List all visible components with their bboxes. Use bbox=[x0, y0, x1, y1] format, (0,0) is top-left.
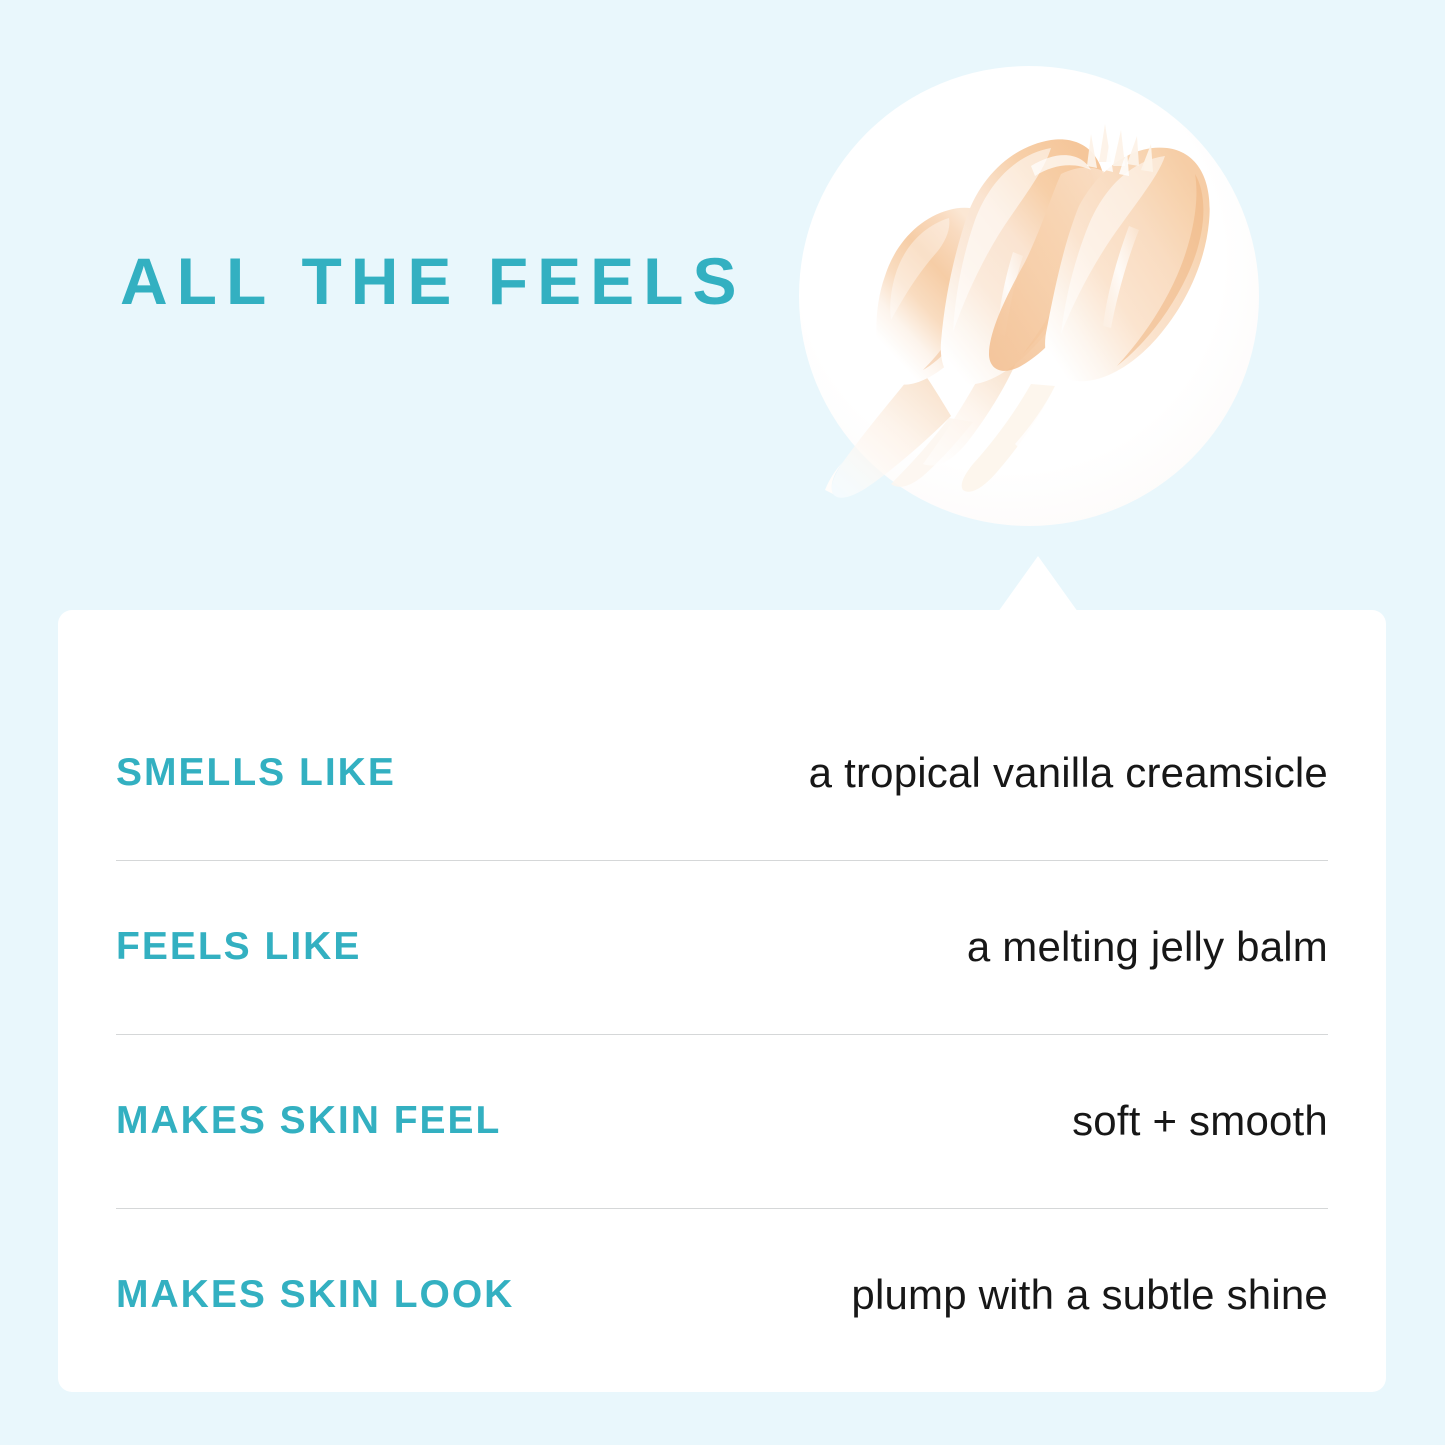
attribute-value: a melting jelly balm bbox=[967, 923, 1328, 971]
cream-swatch-image bbox=[799, 66, 1259, 526]
attribute-value: soft + smooth bbox=[1072, 1097, 1328, 1145]
cream-swatch-art-icon bbox=[799, 66, 1259, 526]
attributes-list: SMELLS LIKE a tropical vanilla creamsicl… bbox=[116, 686, 1328, 1382]
list-item: SMELLS LIKE a tropical vanilla creamsicl… bbox=[116, 686, 1328, 860]
attribute-label: SMELLS LIKE bbox=[116, 751, 396, 795]
all-the-feels-poster: ALL THE FEELS SMELLS LIKE a tropical van… bbox=[0, 0, 1445, 1445]
attribute-label: MAKES SKIN LOOK bbox=[116, 1273, 514, 1317]
attribute-label: MAKES SKIN FEEL bbox=[116, 1099, 501, 1143]
list-item: MAKES SKIN FEEL soft + smooth bbox=[116, 1034, 1328, 1208]
attribute-value: plump with a subtle shine bbox=[851, 1271, 1328, 1319]
page-title: ALL THE FEELS bbox=[120, 248, 745, 314]
card-pointer-triangle bbox=[998, 556, 1078, 612]
attribute-label: FEELS LIKE bbox=[116, 925, 361, 969]
attributes-card: SMELLS LIKE a tropical vanilla creamsicl… bbox=[58, 610, 1386, 1392]
swatch-brush-tails bbox=[825, 360, 1065, 498]
attribute-value: a tropical vanilla creamsicle bbox=[809, 749, 1328, 797]
list-item: MAKES SKIN LOOK plump with a subtle shin… bbox=[116, 1208, 1328, 1382]
list-item: FEELS LIKE a melting jelly balm bbox=[116, 860, 1328, 1034]
